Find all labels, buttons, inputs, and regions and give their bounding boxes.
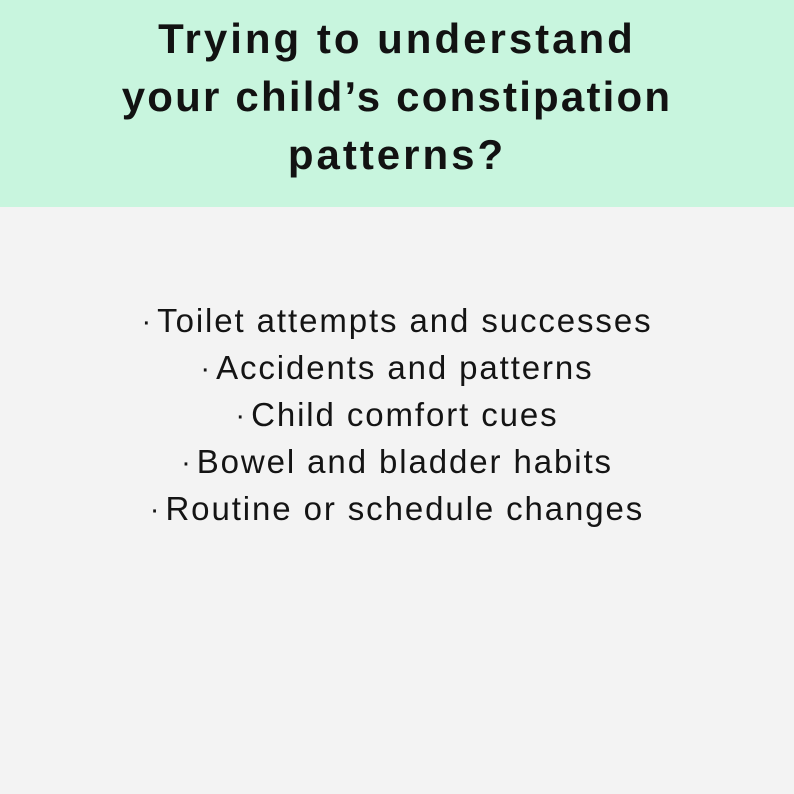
- list-item-label: Accidents and patterns: [216, 349, 594, 386]
- bullet-dot-icon: ·: [181, 447, 197, 479]
- bullet-dot-icon: ·: [200, 353, 216, 385]
- body-area: ·Toilet attempts and successes ·Accident…: [0, 207, 794, 794]
- header-band: Trying to understand your child’s consti…: [0, 0, 794, 207]
- list-item: ·Accidents and patterns: [0, 345, 794, 392]
- poster-canvas: Trying to understand your child’s consti…: [0, 0, 794, 794]
- bullet-dot-icon: ·: [142, 306, 158, 338]
- list-item-label: Child comfort cues: [251, 396, 558, 433]
- list-item: ·Routine or schedule changes: [0, 486, 794, 533]
- page-title: Trying to understand your child’s consti…: [0, 10, 794, 184]
- title-line-1: Trying to understand: [0, 10, 794, 68]
- list-item: ·Child comfort cues: [0, 392, 794, 439]
- title-line-2: your child’s constipation: [0, 68, 794, 126]
- title-line-3: patterns?: [0, 126, 794, 184]
- bottom-empty-space: [0, 537, 794, 794]
- list-item-label: Toilet attempts and successes: [157, 302, 652, 339]
- bullet-dot-icon: ·: [235, 400, 251, 432]
- list-item: ·Bowel and bladder habits: [0, 439, 794, 486]
- list-item-label: Routine or schedule changes: [165, 490, 644, 527]
- tracking-points-list: ·Toilet attempts and successes ·Accident…: [0, 298, 794, 533]
- bullet-dot-icon: ·: [150, 494, 166, 526]
- list-item-label: Bowel and bladder habits: [197, 443, 613, 480]
- list-item: ·Toilet attempts and successes: [0, 298, 794, 345]
